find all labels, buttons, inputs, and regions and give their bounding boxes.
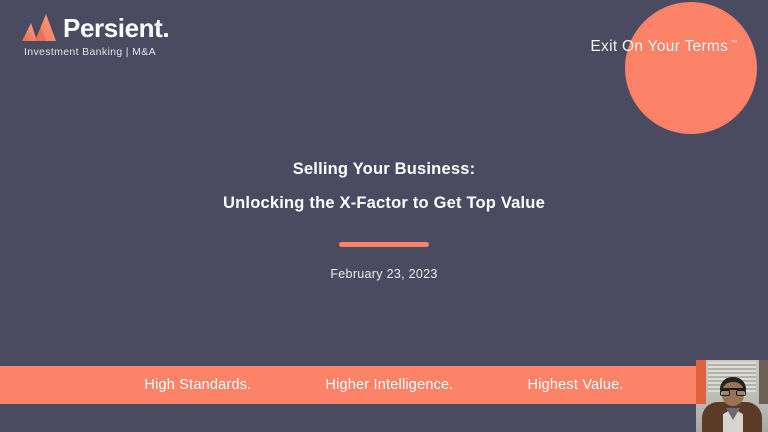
banner-item-highest-value: Highest Value. xyxy=(528,377,624,393)
slide-title-line-2: Unlocking the X-Factor to Get Top Value xyxy=(0,194,768,214)
persient-peaks-mark-icon xyxy=(22,14,56,41)
slide-center-content: Selling Your Business: Unlocking the X-F… xyxy=(0,160,768,281)
brand-logo: Persient. Investment Banking | M&A xyxy=(22,14,169,58)
title-divider xyxy=(339,242,429,247)
webcam-background-left-panel xyxy=(696,360,706,404)
banner-item-high-standards: High Standards. xyxy=(144,377,251,393)
presenter-video-tile[interactable] xyxy=(696,360,768,432)
presenter-glasses xyxy=(720,388,746,395)
brand-wordmark: Persient. xyxy=(63,15,169,41)
presentation-slide: Persient. Investment Banking | M&A Exit … xyxy=(0,0,768,432)
trademark-symbol: ™ xyxy=(730,39,738,47)
banner-item-higher-intelligence: Higher Intelligence. xyxy=(325,377,453,393)
brand-tagline: Investment Banking | M&A xyxy=(24,46,156,58)
bottom-tagline-banner: High Standards. Higher Intelligence. Hig… xyxy=(0,366,768,404)
tagline-text: Exit On Your Terms xyxy=(590,38,728,56)
accent-circle xyxy=(625,2,757,134)
event-date: February 23, 2023 xyxy=(0,267,768,281)
exit-on-your-terms-tagline: Exit On Your Terms ™ xyxy=(590,38,738,56)
slide-title-line-1: Selling Your Business: xyxy=(0,160,768,180)
webcam-background-right-panel xyxy=(759,360,768,404)
